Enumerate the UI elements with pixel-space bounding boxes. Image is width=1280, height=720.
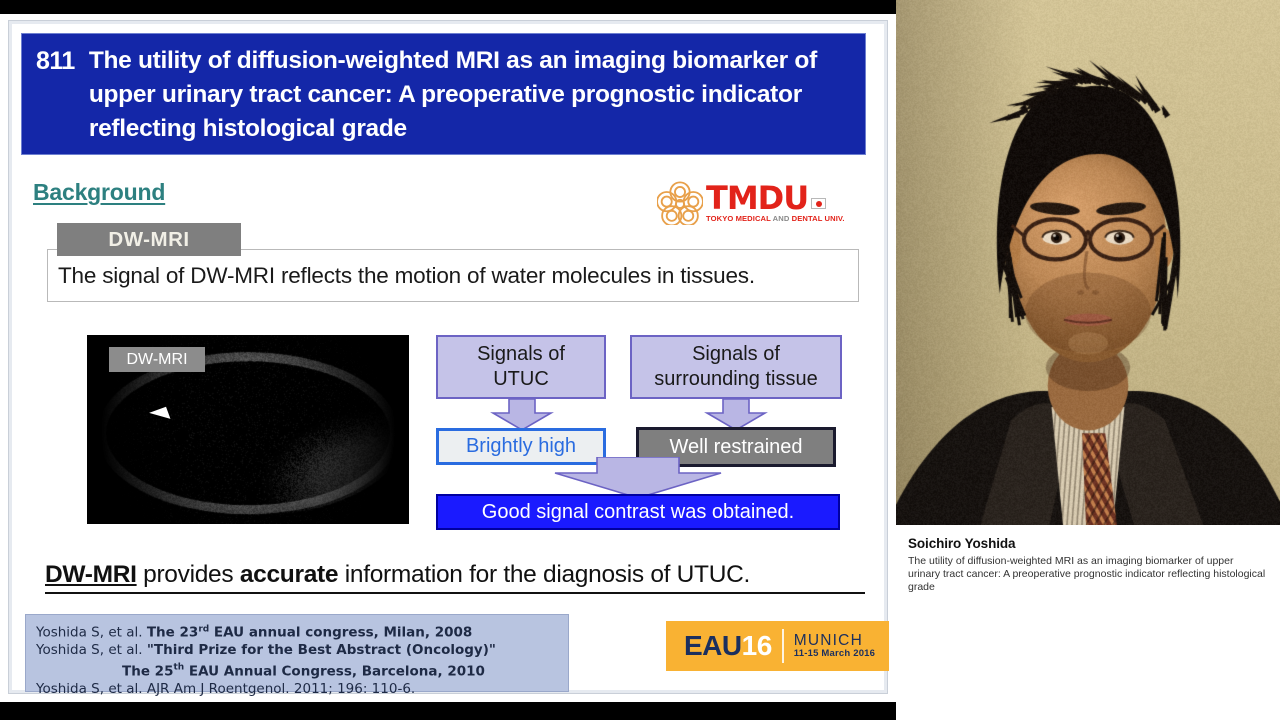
ref3-bold-a: The 25 <box>122 663 173 679</box>
ref1-bold-b: EAU annual congress, Milan, 2008 <box>209 625 472 641</box>
slide-watermark: ((| <box>641 653 660 676</box>
tmdu-sub-dental: DENTAL <box>792 214 825 223</box>
ref3-bold-b: EAU Annual Congress, Barcelona, 2010 <box>184 663 485 679</box>
reference-line-1: Yoshida S, et al. The 23rd EAU annual co… <box>36 621 568 642</box>
slide-viewer: 811 The utility of diffusion-weighted MR… <box>0 0 896 720</box>
tmdu-text-block: TMDU TOKYO MEDICAL AND DENTAL UNIV. <box>706 183 845 223</box>
flow-box-utuc-line1: Signals of <box>477 342 565 367</box>
flow-box-signals-surrounding-tissue: Signals of surrounding tissue <box>630 335 842 399</box>
flow-box-utuc-line2: UTUC <box>477 367 565 392</box>
bottom-statement-dwmri: DW-MRI <box>45 561 137 588</box>
references-box: Yoshida S, et al. The 23rd EAU annual co… <box>25 614 569 692</box>
bottom-statement-provides: provides <box>137 561 240 588</box>
abstract-number: 811 <box>36 44 75 76</box>
plum-blossom-icon <box>657 181 703 225</box>
down-arrow-icon-utuc <box>489 399 555 431</box>
dwmri-tag: DW-MRI <box>57 223 241 256</box>
flow-box-surrounding-line1: Signals of <box>654 342 817 367</box>
speaker-talk-title: The utility of diffusion-weighted MRI as… <box>908 555 1268 593</box>
tmdu-subtitle: TOKYO MEDICAL AND DENTAL UNIV. <box>706 214 845 223</box>
screen: 811 The utility of diffusion-weighted MR… <box>0 0 1280 720</box>
eau-dates: 11-15 March 2016 <box>794 649 875 660</box>
mri-image-label: DW-MRI <box>109 347 205 372</box>
speaker-panel: Soichiro Yoshida The utility of diffusio… <box>896 0 1280 720</box>
flow-box-signals-utuc: Signals of UTUC <box>436 335 606 399</box>
eau-city: MUNICH <box>794 632 875 650</box>
reference-line-3: The 25th EAU Annual Congress, Barcelona,… <box>36 660 568 681</box>
dwmri-statement-box: The signal of DW-MRI reflects the motion… <box>47 249 859 302</box>
letterbox-bottom <box>0 702 896 720</box>
section-heading-background: Background <box>33 179 165 206</box>
bottom-statement: DW-MRI provides accurate information for… <box>45 561 865 594</box>
ref1-sup: rd <box>198 624 209 634</box>
slide-inner-frame: 811 The utility of diffusion-weighted MR… <box>8 20 888 694</box>
slide-title: The utility of diffusion-weighted MRI as… <box>89 44 853 146</box>
eau-year: 16 <box>742 630 772 661</box>
japan-flag-icon <box>811 198 826 209</box>
presentation-slide: 811 The utility of diffusion-weighted MR… <box>0 14 896 702</box>
tmdu-sub-tokyo: TOKYO <box>706 214 736 223</box>
eau-location-block: MUNICH 11-15 March 2016 <box>794 632 875 661</box>
merge-down-arrow-icon <box>549 457 727 499</box>
tmdu-logo: TMDU TOKYO MEDICAL AND DENTAL UNIV. <box>657 179 871 227</box>
ref3-sup: th <box>173 663 184 673</box>
speaker-portrait-image <box>896 0 1280 525</box>
ref2-bold: "Third Prize for the Best Abstract (Onco… <box>147 642 496 658</box>
reference-line-4: Yoshida S, et al. AJR Am J Roentgenol. 2… <box>36 681 568 699</box>
tmdu-wordmark: TMDU <box>706 183 808 213</box>
eau16-logo: EAU16 MUNICH 11-15 March 2016 <box>666 621 889 671</box>
tmdu-sub-medical: MEDICAL <box>736 214 773 223</box>
bottom-statement-accurate: accurate <box>240 561 338 588</box>
eau-text: EAU <box>684 630 742 661</box>
dwmri-statement-text: The signal of DW-MRI reflects the motion… <box>58 263 755 289</box>
flow-box-conclusion: Good signal contrast was obtained. <box>436 494 840 530</box>
ref1-author: Yoshida S, et al. <box>36 625 147 641</box>
mri-figure: DW-MRI <box>87 335 409 524</box>
slide-title-banner: 811 The utility of diffusion-weighted MR… <box>21 33 866 155</box>
tmdu-sub-and: AND <box>773 214 792 223</box>
letterbox-top <box>0 0 896 14</box>
ref2-author: Yoshida S, et al. <box>36 642 147 658</box>
speaker-meta: Soichiro Yoshida The utility of diffusio… <box>896 525 1280 720</box>
tmdu-sub-univ: UNIV. <box>825 214 845 223</box>
eau-divider <box>782 629 784 663</box>
flow-box-surrounding-line2: surrounding tissue <box>654 367 817 392</box>
tmdu-wordmark-row: TMDU <box>706 183 845 213</box>
reference-line-2: Yoshida S, et al. "Third Prize for the B… <box>36 642 568 660</box>
ref1-bold-a: The 23 <box>147 625 198 641</box>
eau-wordmark: EAU16 <box>684 630 772 662</box>
speaker-photo <box>896 0 1280 525</box>
bottom-statement-rest: information for the diagnosis of UTUC. <box>338 561 750 588</box>
speaker-name: Soichiro Yoshida <box>908 536 1268 551</box>
